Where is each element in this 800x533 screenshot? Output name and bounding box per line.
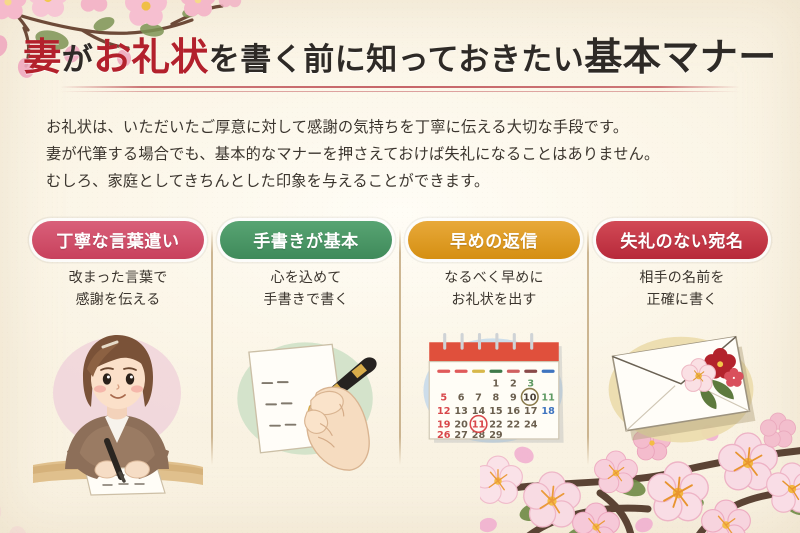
desk-calendar-icon: 1 2 3 5 6 7 8 9 10 11 12 13 14 xyxy=(404,321,584,466)
title-part-1: 妻 xyxy=(23,34,62,79)
svg-text:1: 1 xyxy=(493,379,500,390)
svg-text:22: 22 xyxy=(489,419,502,430)
svg-text:15: 15 xyxy=(489,406,503,417)
title-part-2: が xyxy=(62,42,94,78)
svg-text:26: 26 xyxy=(437,430,451,441)
card-handwritten: 手書きが基本 心を込めて 手書きで書く xyxy=(212,215,400,515)
lead-line-2: 妻が代筆する場合でも、基本的なマナーを押さえておけば失礼になることはありません。 xyxy=(46,141,762,168)
svg-text:22: 22 xyxy=(507,419,520,430)
title-part-5: 基本マナー xyxy=(584,34,777,79)
card-subtitle-1-line-1: 改まった言葉で xyxy=(24,267,212,289)
svg-text:20: 20 xyxy=(454,419,468,430)
card-subtitle-1-line-2: 感謝を伝える xyxy=(24,289,212,311)
svg-text:9: 9 xyxy=(510,392,517,403)
card-badge-2[interactable]: 手書きが基本 xyxy=(220,221,392,259)
svg-text:16: 16 xyxy=(507,406,521,417)
card-polite-wording: 丁寧な言葉遣い 改まった言葉で 感謝を伝える xyxy=(24,215,212,515)
svg-text:12: 12 xyxy=(437,406,450,417)
svg-text:13: 13 xyxy=(454,406,467,417)
card-badge-4[interactable]: 失礼のない宛名 xyxy=(596,221,768,259)
svg-text:17: 17 xyxy=(524,406,537,417)
svg-text:24: 24 xyxy=(524,419,538,430)
svg-text:10: 10 xyxy=(523,392,537,403)
card-quick-reply: 早めの返信 なるべく早めに お礼状を出す xyxy=(400,215,588,515)
woman-writing-letter-icon xyxy=(25,317,211,507)
svg-text:6: 6 xyxy=(458,392,465,403)
card-illustration-4 xyxy=(588,317,776,507)
svg-text:29: 29 xyxy=(489,430,503,441)
card-subtitle-3: なるべく早めに お礼状を出す xyxy=(400,267,588,311)
svg-text:7: 7 xyxy=(475,392,482,403)
svg-text:5: 5 xyxy=(440,392,447,403)
card-subtitle-1: 改まった言葉で 感謝を伝える xyxy=(24,267,212,311)
svg-text:11: 11 xyxy=(472,419,486,430)
infographic-page: 妻がお礼状を書く前に知っておきたい基本マナー お礼状は、いただいたご厚意に対して… xyxy=(0,0,800,533)
card-illustration-2 xyxy=(212,317,400,507)
card-subtitle-4: 相手の名前を 正確に書く xyxy=(588,267,776,311)
card-subtitle-4-line-1: 相手の名前を xyxy=(588,267,776,289)
card-subtitle-4-line-2: 正確に書く xyxy=(588,289,776,311)
card-subtitle-3-line-2: お礼状を出す xyxy=(400,289,588,311)
manner-cards: 丁寧な言葉遣い 改まった言葉で 感謝を伝える xyxy=(24,215,776,515)
envelope-with-flowers-icon xyxy=(591,321,773,468)
card-illustration-1 xyxy=(24,317,212,507)
card-illustration-3: 1 2 3 5 6 7 8 9 10 11 12 13 14 xyxy=(400,317,588,507)
hand-with-fountain-pen-icon xyxy=(216,323,396,478)
card-correct-address: 失礼のない宛名 相手の名前を 正確に書く xyxy=(588,215,776,515)
card-badge-3[interactable]: 早めの返信 xyxy=(408,221,580,259)
title-part-4: を書く前に知っておきたい xyxy=(209,42,585,78)
title-part-3: お礼状 xyxy=(93,34,209,79)
svg-text:11: 11 xyxy=(541,392,555,403)
svg-text:2: 2 xyxy=(510,379,517,390)
card-subtitle-2-line-1: 心を込めて xyxy=(212,267,400,289)
lead-line-3: むしろ、家庭としてきちんとした印象を与えることができます。 xyxy=(46,168,762,195)
title-underline xyxy=(60,86,740,93)
card-subtitle-2: 心を込めて 手書きで書く xyxy=(212,267,400,311)
svg-text:19: 19 xyxy=(437,419,451,430)
card-badge-1[interactable]: 丁寧な言葉遣い xyxy=(32,221,204,259)
lead-paragraph: お礼状は、いただいたご厚意に対して感謝の気持ちを丁寧に伝える大切な手段です。 妻… xyxy=(46,114,762,195)
svg-text:8: 8 xyxy=(493,392,500,403)
card-subtitle-3-line-1: なるべく早めに xyxy=(400,267,588,289)
card-subtitle-2-line-2: 手書きで書く xyxy=(212,289,400,311)
svg-text:18: 18 xyxy=(541,406,555,417)
lead-line-1: お礼状は、いただいたご厚意に対して感謝の気持ちを丁寧に伝える大切な手段です。 xyxy=(46,114,762,141)
page-title: 妻がお礼状を書く前に知っておきたい基本マナー xyxy=(0,36,800,78)
svg-text:27: 27 xyxy=(454,430,467,441)
